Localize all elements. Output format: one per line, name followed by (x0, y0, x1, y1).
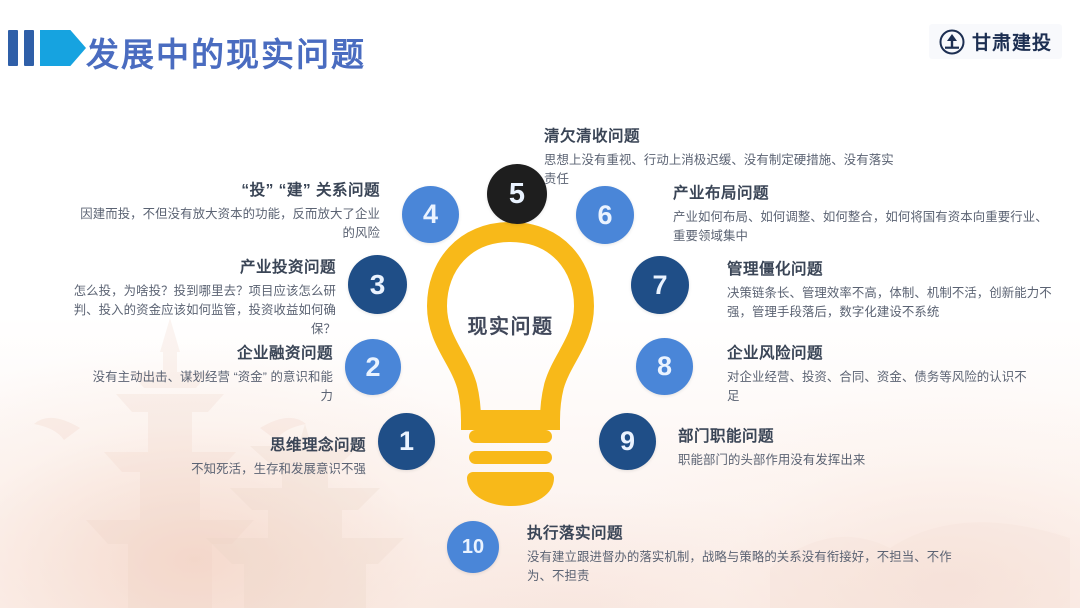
item-desc-7: 决策链条长、管理效率不高，体制、机制不活，创新能力不强，管理手段落后，数字化建设… (727, 284, 1060, 322)
item-block-9: 部门职能问题 职能部门的头部作用没有发挥出来 (678, 424, 1008, 470)
item-block-1: 思维理念问题 不知死活，生存和发展意识不强 (90, 433, 366, 479)
slide-header: 发展中的现实问题 甘肃建投 (0, 0, 1080, 96)
item-heading-8: 企业风险问题 (727, 341, 1037, 363)
item-heading-10: 执行落实问题 (527, 521, 975, 543)
item-desc-2: 没有主动出击、谋划经营 “资金” 的意识和能力 (88, 368, 333, 406)
brand-logo: 甘肃建投 (929, 24, 1062, 59)
bulb-center-label: 现实问题 (423, 310, 598, 339)
item-heading-3: 产业投资问题 (58, 255, 336, 277)
number-circle-5[interactable]: 5 (487, 164, 547, 224)
item-heading-5: 清欠清收问题 (544, 124, 894, 146)
number-circle-10[interactable]: 10 (447, 521, 499, 573)
item-block-3: 产业投资问题 怎么投，为啥投？投到哪里去？项目应该怎么研判、投入的资金应该如何监… (58, 255, 336, 339)
item-desc-4: 因建而投，不但没有放大资本的功能，反而放大了企业的风险 (80, 205, 380, 243)
circle-anchor-icon (939, 29, 965, 55)
number-circle-6[interactable]: 6 (576, 186, 634, 244)
number-circle-3[interactable]: 3 (348, 255, 407, 314)
item-heading-7: 管理僵化问题 (727, 257, 1060, 279)
number-circle-4[interactable]: 4 (402, 186, 459, 243)
item-desc-10: 没有建立跟进督办的落实机制，战略与策略的关系没有衔接好，不担当、不作为、不担责 (527, 548, 975, 586)
item-block-2: 企业融资问题 没有主动出击、谋划经营 “资金” 的意识和能力 (88, 341, 333, 406)
number-circle-7[interactable]: 7 (631, 256, 689, 314)
item-desc-9: 职能部门的头部作用没有发挥出来 (678, 451, 1008, 470)
item-desc-1: 不知死活，生存和发展意识不强 (90, 460, 366, 479)
item-block-6: 产业布局问题 产业如何布局、如何调整、如何整合，如何将国有资本向重要行业、重要领… (673, 181, 1051, 246)
title-bar-2-icon (24, 30, 34, 66)
item-heading-4: “投” “建” 关系问题 (80, 178, 380, 200)
logo-text: 甘肃建投 (972, 28, 1052, 55)
item-block-4: “投” “建” 关系问题 因建而投，不但没有放大资本的功能，反而放大了企业的风险 (80, 178, 380, 243)
number-circle-1[interactable]: 1 (378, 413, 435, 470)
lightbulb-icon (423, 218, 598, 508)
item-heading-2: 企业融资问题 (88, 341, 333, 363)
title-bar-1-icon (8, 30, 18, 66)
item-heading-1: 思维理念问题 (90, 433, 366, 455)
item-desc-8: 对企业经营、投资、合同、资金、债务等风险的认识不足 (727, 368, 1037, 406)
slide-canvas: 发展中的现实问题 甘肃建投 现实问题 1 2 3 4 5 6 7 8 9 10 (0, 0, 1080, 608)
number-circle-9[interactable]: 9 (599, 413, 656, 470)
item-block-8: 企业风险问题 对企业经营、投资、合同、资金、债务等风险的认识不足 (727, 341, 1037, 406)
title-decoration-icon (8, 30, 86, 66)
page-title: 发展中的现实问题 (86, 28, 366, 76)
item-block-5: 清欠清收问题 思想上没有重视、行动上消极迟缓、没有制定硬措施、没有落实责任 (544, 124, 894, 189)
item-heading-9: 部门职能问题 (678, 424, 1008, 446)
item-desc-6: 产业如何布局、如何调整、如何整合，如何将国有资本向重要行业、重要领域集中 (673, 208, 1051, 246)
number-circle-2[interactable]: 2 (345, 339, 401, 395)
item-block-10: 执行落实问题 没有建立跟进督办的落实机制，战略与策略的关系没有衔接好，不担当、不… (527, 521, 975, 586)
number-circle-8[interactable]: 8 (636, 338, 693, 395)
item-heading-6: 产业布局问题 (673, 181, 1051, 203)
item-desc-3: 怎么投，为啥投？投到哪里去？项目应该怎么研判、投入的资金应该如何监管，投资收益如… (58, 282, 336, 339)
item-block-7: 管理僵化问题 决策链条长、管理效率不高，体制、机制不活，创新能力不强，管理手段落… (727, 257, 1060, 322)
title-arrow-icon (40, 30, 86, 66)
